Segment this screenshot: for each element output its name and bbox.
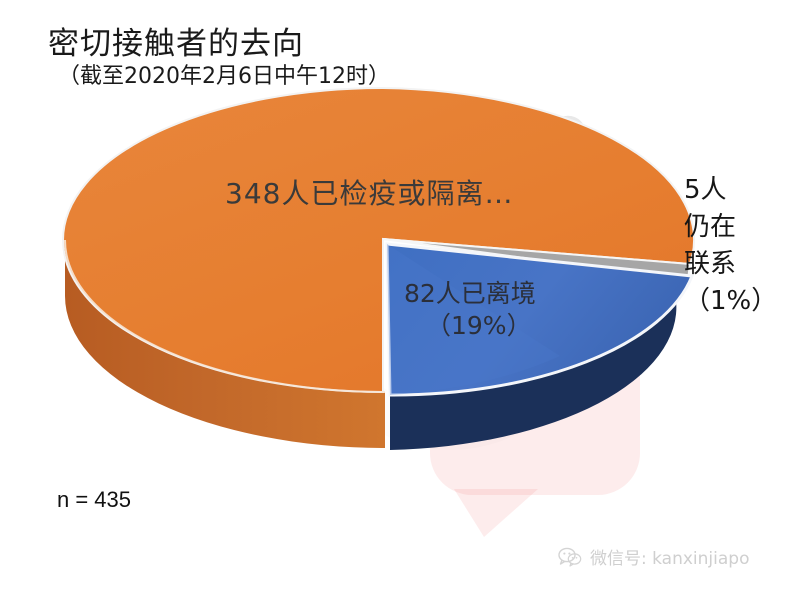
- data-label-gray-line1: 5人: [684, 172, 777, 209]
- data-label-blue-text: 82人已离境: [404, 279, 536, 308]
- data-label-gray-line2: 仍在: [684, 209, 777, 246]
- data-label-blue-percent: （19%）: [426, 310, 594, 342]
- data-label-gray: 5人 仍在 联系 （1%）: [684, 172, 777, 320]
- data-label-gray-line4: （1%）: [684, 283, 777, 320]
- wechat-id-text: 微信号: kanxinjiapo: [590, 544, 749, 569]
- sample-size-note: n = 435: [57, 487, 131, 513]
- chart-page: 新加坡眼®: [0, 0, 800, 594]
- data-label-orange: 348人已检疫或隔离…: [225, 172, 513, 212]
- data-label-blue: 82人已离境 （19%）: [404, 278, 594, 342]
- chart-title: 密切接触者的去向: [48, 18, 304, 63]
- wechat-icon: [558, 547, 582, 567]
- wechat-watermark: 微信号: kanxinjiapo: [558, 544, 749, 569]
- data-label-gray-line3: 联系: [684, 246, 777, 283]
- chart-subtitle: （截至2020年2月6日中午12时）: [58, 58, 390, 90]
